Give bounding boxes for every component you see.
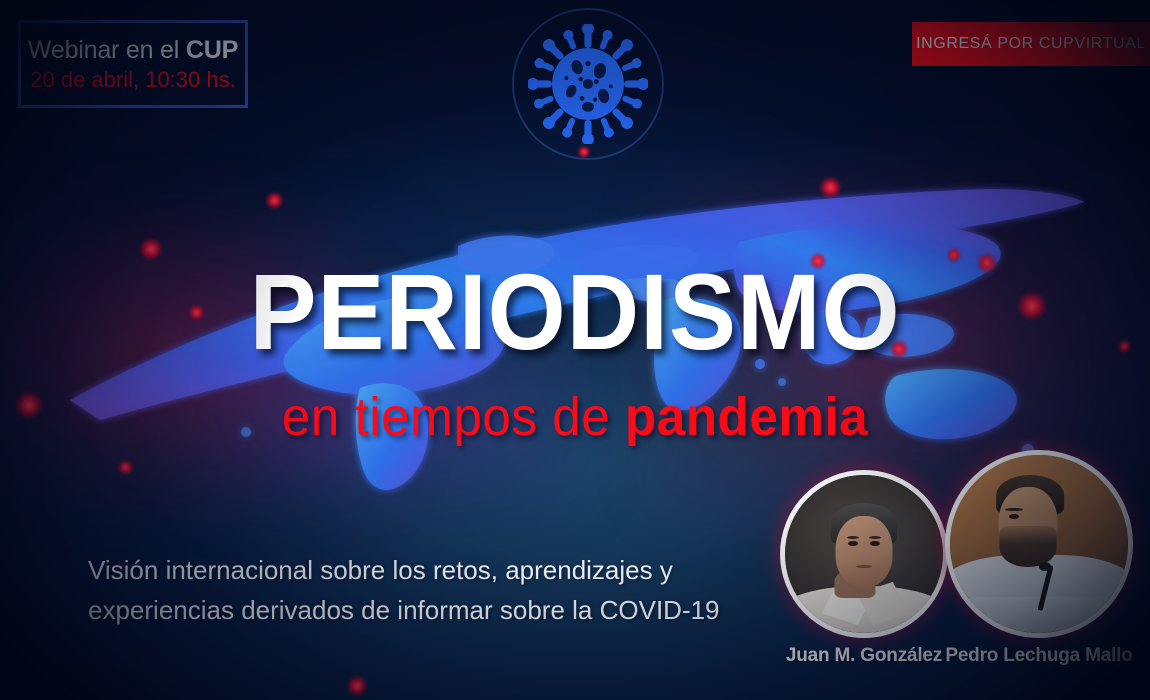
badge-title: Webinar en el CUP (28, 37, 238, 63)
description-line-1: Visión internacional sobre los retos, ap… (88, 551, 748, 591)
badge-datetime: 20 de abril, 10:30 hs. (30, 68, 235, 91)
speaker-name: Juan M. González (780, 645, 948, 667)
webinar-badge: Webinar en el CUP 20 de abril, 10:30 hs. (18, 20, 248, 108)
description-text: Visión internacional sobre los retos, ap… (88, 551, 748, 630)
avatar (780, 470, 948, 638)
description-line-2: experiencias derivados de informar sobre… (88, 591, 748, 631)
page-subtitle: en tiempos de pandemia (29, 390, 1122, 444)
webinar-promo-banner: Webinar en el CUP 20 de abril, 10:30 hs.… (0, 0, 1150, 700)
avatar (945, 450, 1133, 638)
page-title: PERIODISMO (40, 258, 1110, 366)
speaker-photo (785, 475, 943, 633)
subtitle-strong: pandemia (625, 387, 868, 447)
speaker-name: Pedro Lechuga Mallo (945, 645, 1133, 667)
speaker-juan-gonzalez: Juan M. González (780, 470, 948, 667)
badge-title-prefix: Webinar en el (28, 36, 186, 64)
subtitle-light: en tiempos de (282, 387, 625, 447)
virus-glyph (528, 24, 648, 144)
coronavirus-icon (512, 8, 664, 160)
speaker-pedro-lechuga-mallo: Pedro Lechuga Mallo (945, 450, 1133, 667)
speaker-photo (950, 455, 1128, 633)
badge-title-strong: CUP (186, 36, 238, 64)
cupvirtual-cta-button[interactable]: INGRESÁ POR CUPVIRTUAL (912, 22, 1150, 66)
